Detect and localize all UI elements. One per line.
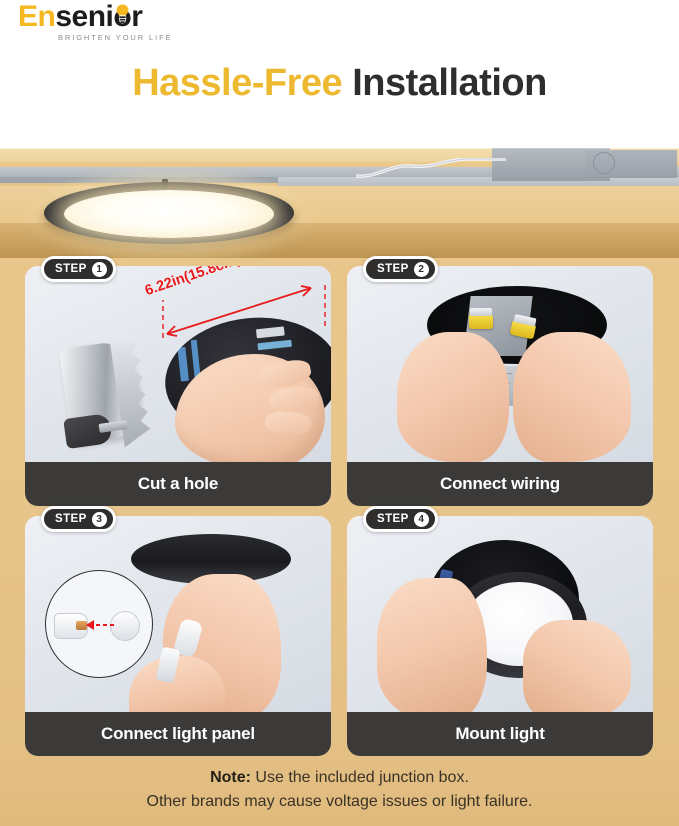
footer-note: Note: Use the included junction box. Oth… xyxy=(0,758,679,826)
note-prefix: Note: xyxy=(210,769,251,786)
step-1-photo: 6.22in(15.8cm) xyxy=(25,266,331,462)
hand-right xyxy=(513,332,631,462)
page-title: Hassle-Free Installation xyxy=(0,62,679,105)
note-line-1-text: Use the included junction box. xyxy=(251,769,469,786)
step-3-photo xyxy=(25,516,331,712)
step-badge-3: STEP 3 xyxy=(41,506,116,532)
dimension-label: 6.22in(15.8cm) xyxy=(143,266,243,299)
page-title-rest: Installation xyxy=(352,62,547,104)
logo-text-en: En xyxy=(18,0,55,33)
panel-label-strip xyxy=(257,340,292,351)
step-caption-2: Connect wiring xyxy=(347,462,653,506)
logo-text-r: r xyxy=(131,0,142,33)
wire-cable-icon xyxy=(356,158,506,184)
note-line-2: Other brands may cause voltage issues or… xyxy=(0,790,679,814)
hand-left xyxy=(377,578,487,712)
step-card-2[interactable]: STEP 2 Connect wiring xyxy=(347,266,653,506)
step-card-1[interactable]: 6.22in(15.8cm) STEP 1 Cut a hole xyxy=(25,266,331,506)
step-badge-label: STEP xyxy=(377,263,409,275)
page-title-highlight: Hassle-Free xyxy=(132,62,342,104)
step-4-photo xyxy=(347,516,653,712)
step-caption-4: Mount light xyxy=(347,712,653,756)
brand-logo: Ensenior BRIGHTEN YOUR LIFE xyxy=(18,2,218,44)
step-badge-label: STEP xyxy=(55,513,87,525)
panel-label-strip xyxy=(256,326,285,338)
step-card-3[interactable]: STEP 3 Connect light panel xyxy=(25,516,331,756)
installed-downlight xyxy=(44,182,294,254)
steps-section: 6.22in(15.8cm) STEP 1 Cut a hole xyxy=(0,258,679,758)
step-badge-number: 2 xyxy=(414,262,429,277)
step-badge-4: STEP 4 xyxy=(363,506,438,532)
step-caption-1: Cut a hole xyxy=(25,462,331,506)
step-badge-number: 3 xyxy=(92,512,107,527)
page-header: Ensenior BRIGHTEN YOUR LIFE Hassle-Free … xyxy=(0,0,679,130)
step-caption-3: Connect light panel xyxy=(25,712,331,756)
step-badge-label: STEP xyxy=(377,513,409,525)
junction-box-knockout xyxy=(593,152,615,174)
hand-right xyxy=(523,620,631,712)
hero-banner xyxy=(0,130,679,258)
step-badge-label: STEP xyxy=(55,263,87,275)
steps-grid: 6.22in(15.8cm) STEP 1 Cut a hole xyxy=(0,258,679,758)
step-card-4[interactable]: STEP 4 Mount light xyxy=(347,516,653,756)
step-2-photo xyxy=(347,266,653,462)
downlight-lens xyxy=(64,190,274,238)
step-badge-1: STEP 1 xyxy=(41,256,116,282)
lightbulb-icon xyxy=(115,4,130,24)
hand-left xyxy=(397,332,509,462)
step-badge-number: 4 xyxy=(414,512,429,527)
panel-label-strip xyxy=(177,347,189,382)
brand-tagline: BRIGHTEN YOUR LIFE xyxy=(58,33,173,42)
step-badge-number: 1 xyxy=(92,262,107,277)
step-badge-2: STEP 2 xyxy=(363,256,438,282)
mounting-clip xyxy=(162,179,168,189)
insert-arrow-icon xyxy=(82,615,116,635)
wire-connector-yellow xyxy=(469,314,493,329)
detail-inset-circle xyxy=(45,570,153,678)
note-line-1: Note: Use the included junction box. xyxy=(0,766,679,790)
